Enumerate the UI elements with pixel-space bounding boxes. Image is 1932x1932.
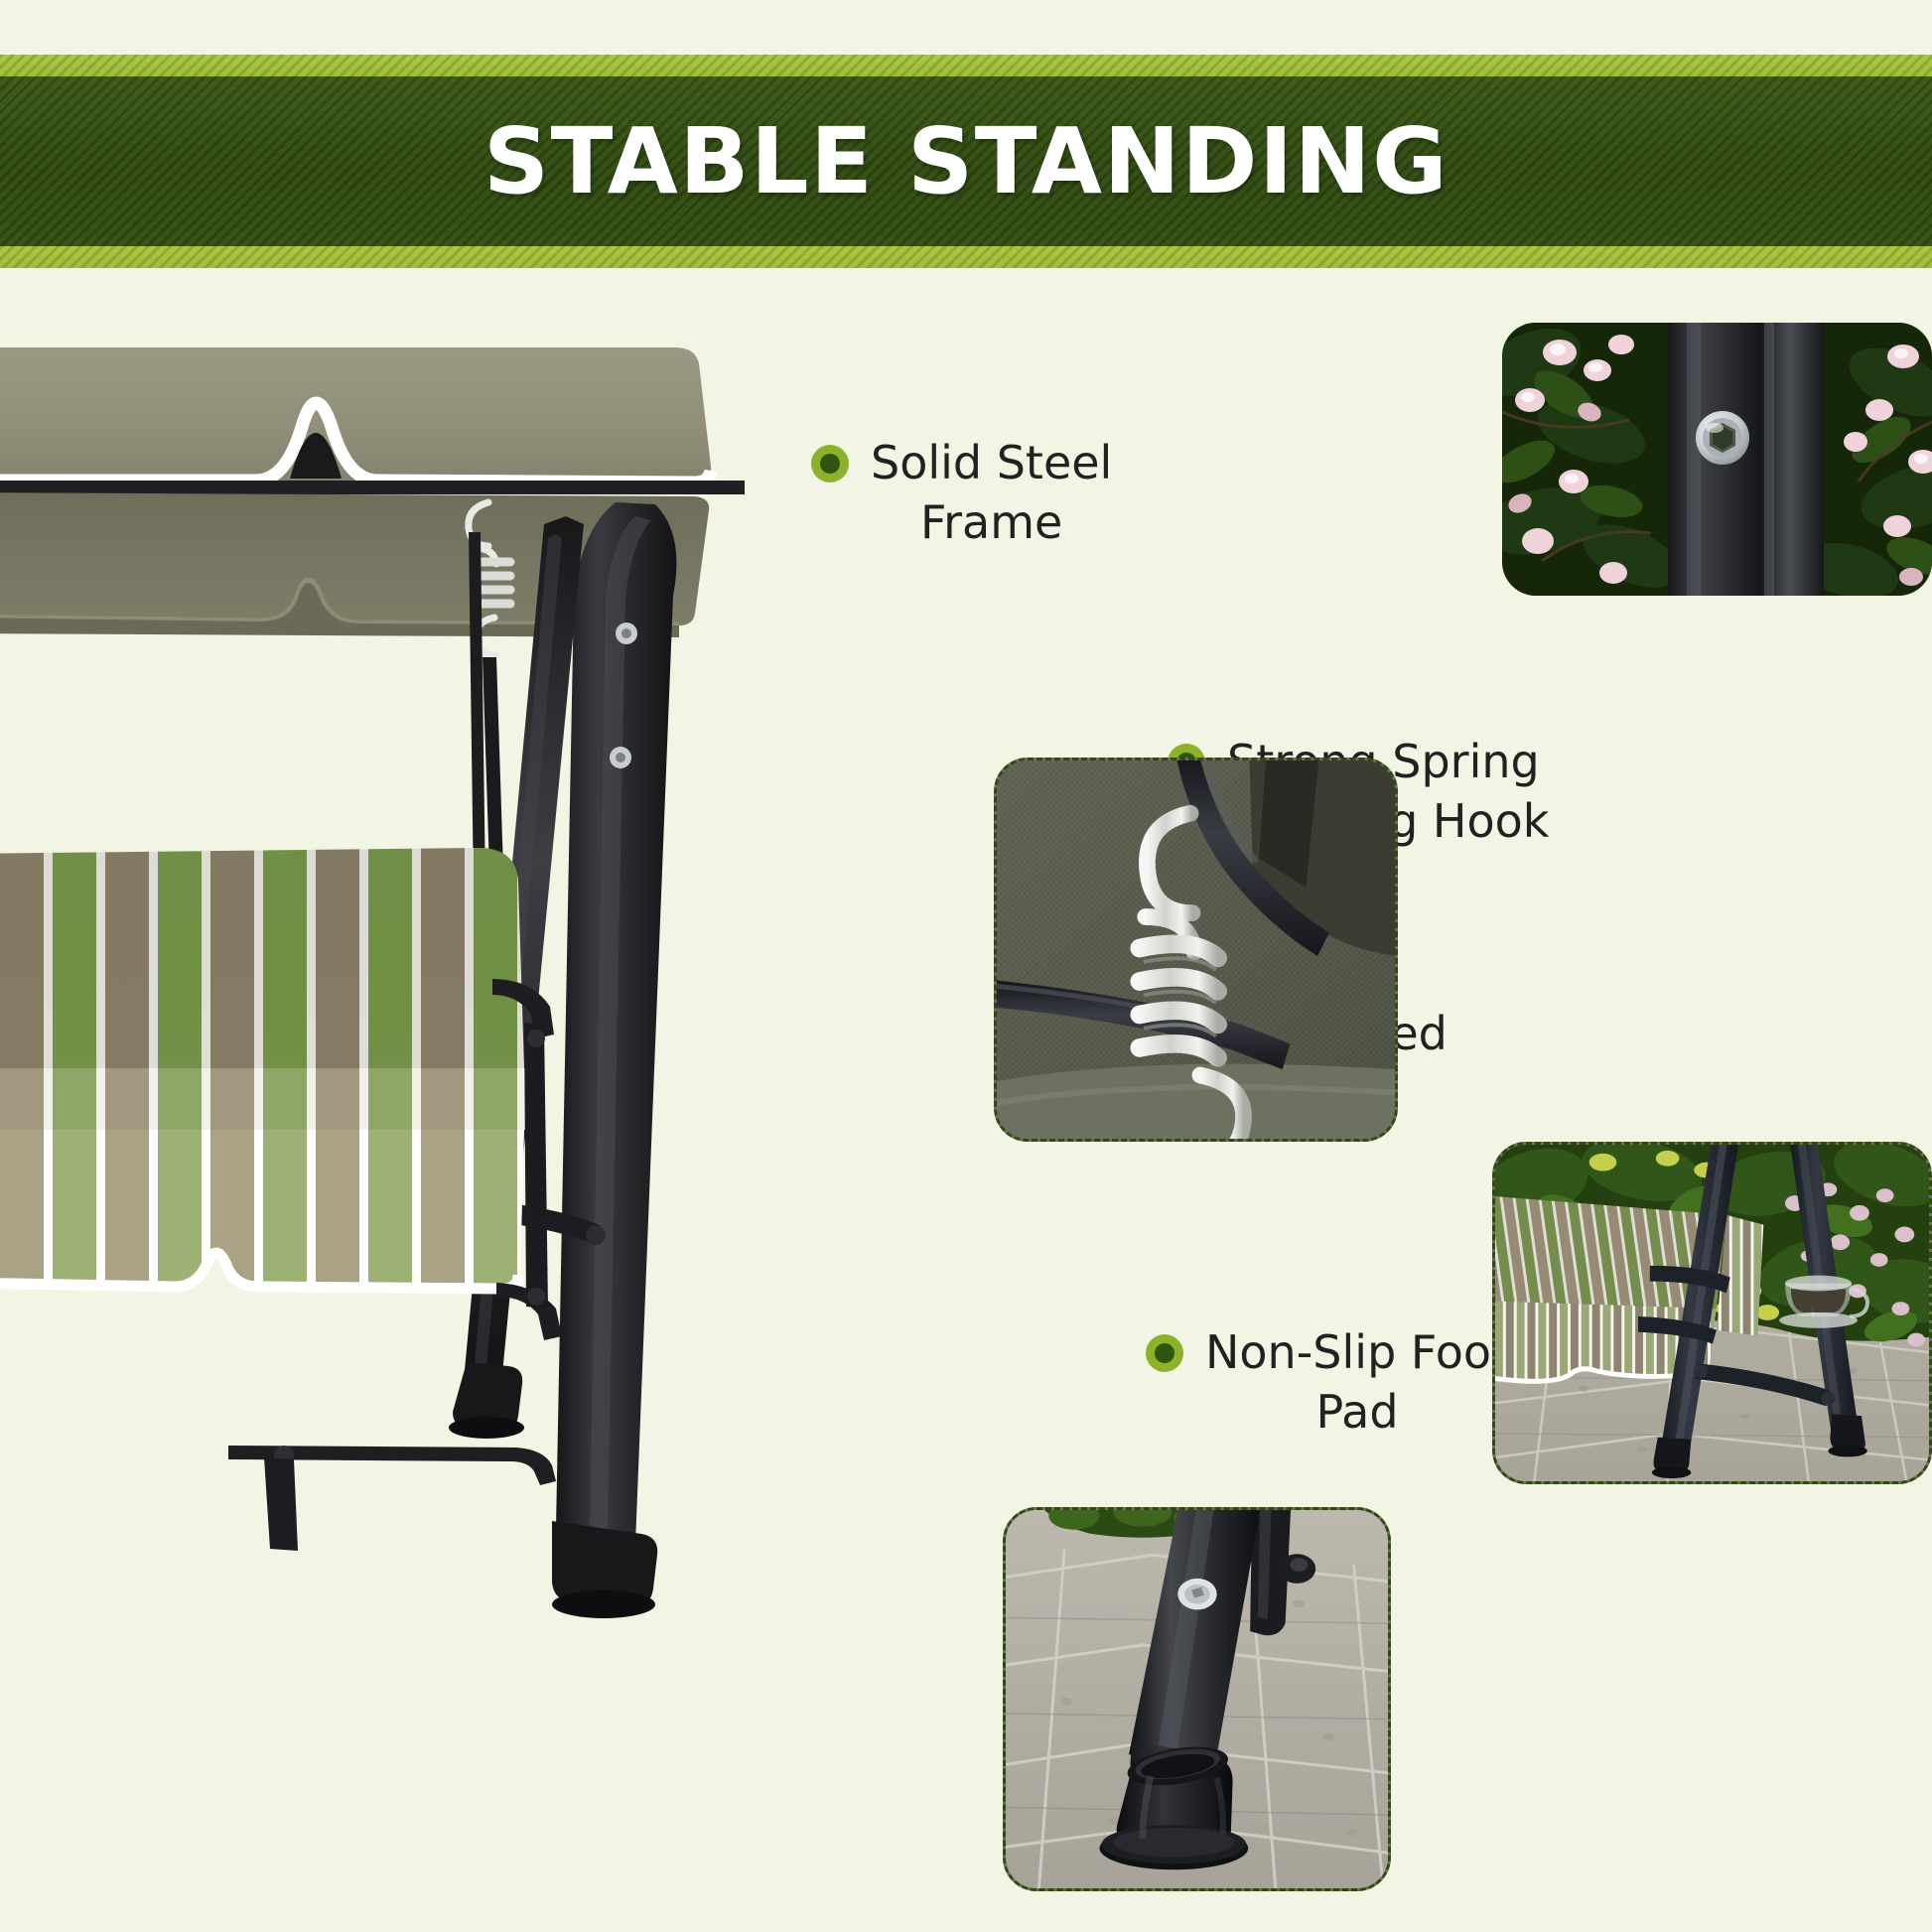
feature-label-text: Solid SteelFrame [871,434,1112,553]
bullet-icon [1146,1334,1183,1372]
feature-solid-steel-frame: Solid SteelFrame [811,434,1228,553]
feature-label-text: Non-Slip FootPad [1205,1323,1509,1443]
inset-photo-foot-pad [1003,1507,1391,1891]
page-title: STABLE STANDING [0,55,1932,268]
header-banner: STABLE STANDING [0,55,1932,268]
inset-photo-steel-frame-bolt [1502,323,1932,596]
inset-photo-spring-hook [994,758,1398,1142]
bullet-icon [811,445,849,483]
inset-photo-a-shaped-structure [1492,1142,1932,1484]
banner-accent-stripe-bottom [0,246,1932,268]
